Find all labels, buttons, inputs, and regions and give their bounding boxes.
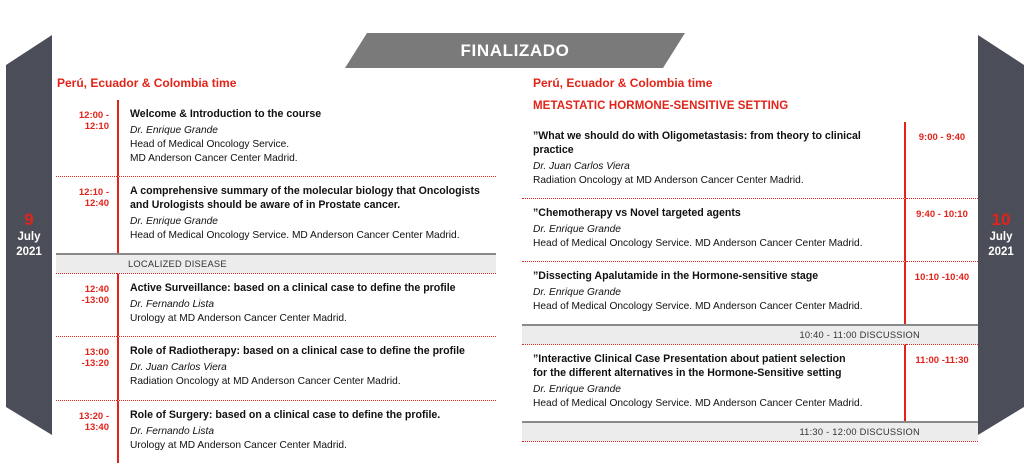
- timezone-title: Perú, Ecuador & Colombia time: [57, 76, 496, 90]
- session-title-cont: for the different alternatives in the Ho…: [533, 367, 894, 381]
- session-affiliation: Urology at MD Anderson Cancer Center Mad…: [130, 439, 496, 453]
- session-title: A comprehensive summary of the molecular…: [130, 185, 496, 199]
- session-speaker: Dr. Fernando Lista: [130, 425, 496, 439]
- session-time: 12:00 - 12:10: [56, 100, 117, 176]
- date-day-number: 10: [992, 211, 1011, 230]
- agenda-column-day-1: Perú, Ecuador & Colombia time 12:00 - 12…: [56, 76, 496, 463]
- session-affiliation: Head of Medical Oncology Service. MD And…: [533, 397, 894, 411]
- session-speaker: Dr. Enrique Grande: [130, 215, 496, 229]
- session-body: Role of Radiotherapy: based on a clinica…: [117, 336, 496, 399]
- agenda-column-day-2: Perú, Ecuador & Colombia time METASTATIC…: [522, 76, 978, 442]
- session-time: 10:10 -10:40: [906, 261, 978, 324]
- session-title: Role of Radiotherapy: based on a clinica…: [130, 345, 496, 359]
- session-speaker: Dr. Enrique Grande: [533, 383, 894, 397]
- session-affiliation: Head of Medical Oncology Service. MD And…: [533, 300, 894, 314]
- session-affiliation: Radiation Oncology at MD Anderson Cancer…: [533, 174, 894, 188]
- session-affiliation: Head of Medical Oncology Service.: [130, 138, 496, 152]
- session-body: ”Interactive Clinical Case Presentation …: [522, 344, 906, 421]
- session-body: ”Dissecting Apalutamide in the Hormone-s…: [522, 261, 906, 324]
- section-band-localized-disease: LOCALIZED DISEASE: [56, 253, 496, 273]
- session-title: ”Dissecting Apalutamide in the Hormone-s…: [533, 270, 894, 284]
- session-speaker: Dr. Juan Carlos Viera: [130, 361, 496, 375]
- session-title: ”Chemotherapy vs Novel targeted agents: [533, 207, 894, 221]
- session-time: 13:00 -13:20: [56, 336, 117, 399]
- date-year: 2021: [988, 245, 1014, 259]
- date-month: July: [17, 230, 40, 244]
- session-body: ”Chemotherapy vs Novel targeted agents D…: [522, 198, 906, 261]
- session-affiliation: Head of Medical Oncology Service. MD And…: [130, 229, 496, 243]
- section-title-metastatic: METASTATIC HORMONE-SENSITIVE SETTING: [533, 100, 978, 112]
- session-speaker: Dr. Enrique Grande: [130, 124, 496, 138]
- agenda-row: 13:00 -13:20 Role of Radiotherapy: based…: [56, 336, 496, 399]
- date-day-number: 9: [24, 211, 33, 230]
- session-title: Active Surveillance: based on a clinical…: [130, 282, 496, 296]
- session-time: 9:00 - 9:40: [906, 122, 978, 198]
- session-speaker: Dr. Enrique Grande: [533, 286, 894, 300]
- agenda-row: ”Dissecting Apalutamide in the Hormone-s…: [522, 261, 978, 324]
- agenda-row: ”Interactive Clinical Case Presentation …: [522, 344, 978, 421]
- date-block-day-1: 9 July 2021: [6, 35, 52, 435]
- status-banner-label: FINALIZADO: [461, 41, 570, 61]
- agenda-row: 12:00 - 12:10 Welcome & Introduction to …: [56, 100, 496, 176]
- timezone-title: Perú, Ecuador & Colombia time: [533, 76, 978, 90]
- session-affiliation: MD Anderson Cancer Center Madrid.: [130, 152, 496, 166]
- session-title: ”What we should do with Oligometastasis:…: [533, 130, 894, 158]
- bottom-dotted-rule: [522, 441, 978, 442]
- session-speaker: Dr. Fernando Lista: [130, 298, 496, 312]
- session-time: 13:20 - 13:40: [56, 400, 117, 463]
- session-body: Role of Surgery: based on a clinical cas…: [117, 400, 496, 463]
- session-title: Welcome & Introduction to the course: [130, 108, 496, 122]
- agenda-row: ”What we should do with Oligometastasis:…: [522, 122, 978, 198]
- session-speaker: Dr. Juan Carlos Viera: [533, 160, 894, 174]
- session-affiliation: Urology at MD Anderson Cancer Center Mad…: [130, 312, 496, 326]
- session-body: Active Surveillance: based on a clinical…: [117, 273, 496, 336]
- session-body: A comprehensive summary of the molecular…: [117, 176, 496, 253]
- agenda-row: ”Chemotherapy vs Novel targeted agents D…: [522, 198, 978, 261]
- session-time: 11:00 -11:30: [906, 344, 978, 421]
- discussion-band: 10:40 - 11:00 DISCUSSION: [522, 324, 978, 344]
- date-month: July: [989, 230, 1012, 244]
- agenda-row: 12:10 - 12:40 A comprehensive summary of…: [56, 176, 496, 253]
- session-body: Welcome & Introduction to the course Dr.…: [117, 100, 496, 176]
- session-title-cont: and Urologists should be aware of in Pro…: [130, 199, 496, 213]
- agenda-page: FINALIZADO 9 July 2021 10 July 2021 Perú…: [0, 0, 1030, 450]
- session-affiliation: Head of Medical Oncology Service. MD And…: [533, 237, 894, 251]
- status-banner: FINALIZADO: [345, 33, 685, 68]
- session-title: Role of Surgery: based on a clinical cas…: [130, 409, 496, 423]
- agenda-row: 12:40 -13:00 Active Surveillance: based …: [56, 273, 496, 336]
- session-title: ”Interactive Clinical Case Presentation …: [533, 353, 894, 367]
- session-time: 12:40 -13:00: [56, 273, 117, 336]
- discussion-band: 11:30 - 12:00 DISCUSSION: [522, 421, 978, 441]
- session-time: 12:10 - 12:40: [56, 176, 117, 253]
- date-block-day-2: 10 July 2021: [978, 35, 1024, 435]
- session-body: ”What we should do with Oligometastasis:…: [522, 122, 906, 198]
- session-affiliation: Radiation Oncology at MD Anderson Cancer…: [130, 375, 496, 389]
- agenda-row: 13:20 - 13:40 Role of Surgery: based on …: [56, 400, 496, 463]
- session-speaker: Dr. Enrique Grande: [533, 223, 894, 237]
- session-time: 9:40 - 10:10: [906, 198, 978, 261]
- date-year: 2021: [16, 245, 42, 259]
